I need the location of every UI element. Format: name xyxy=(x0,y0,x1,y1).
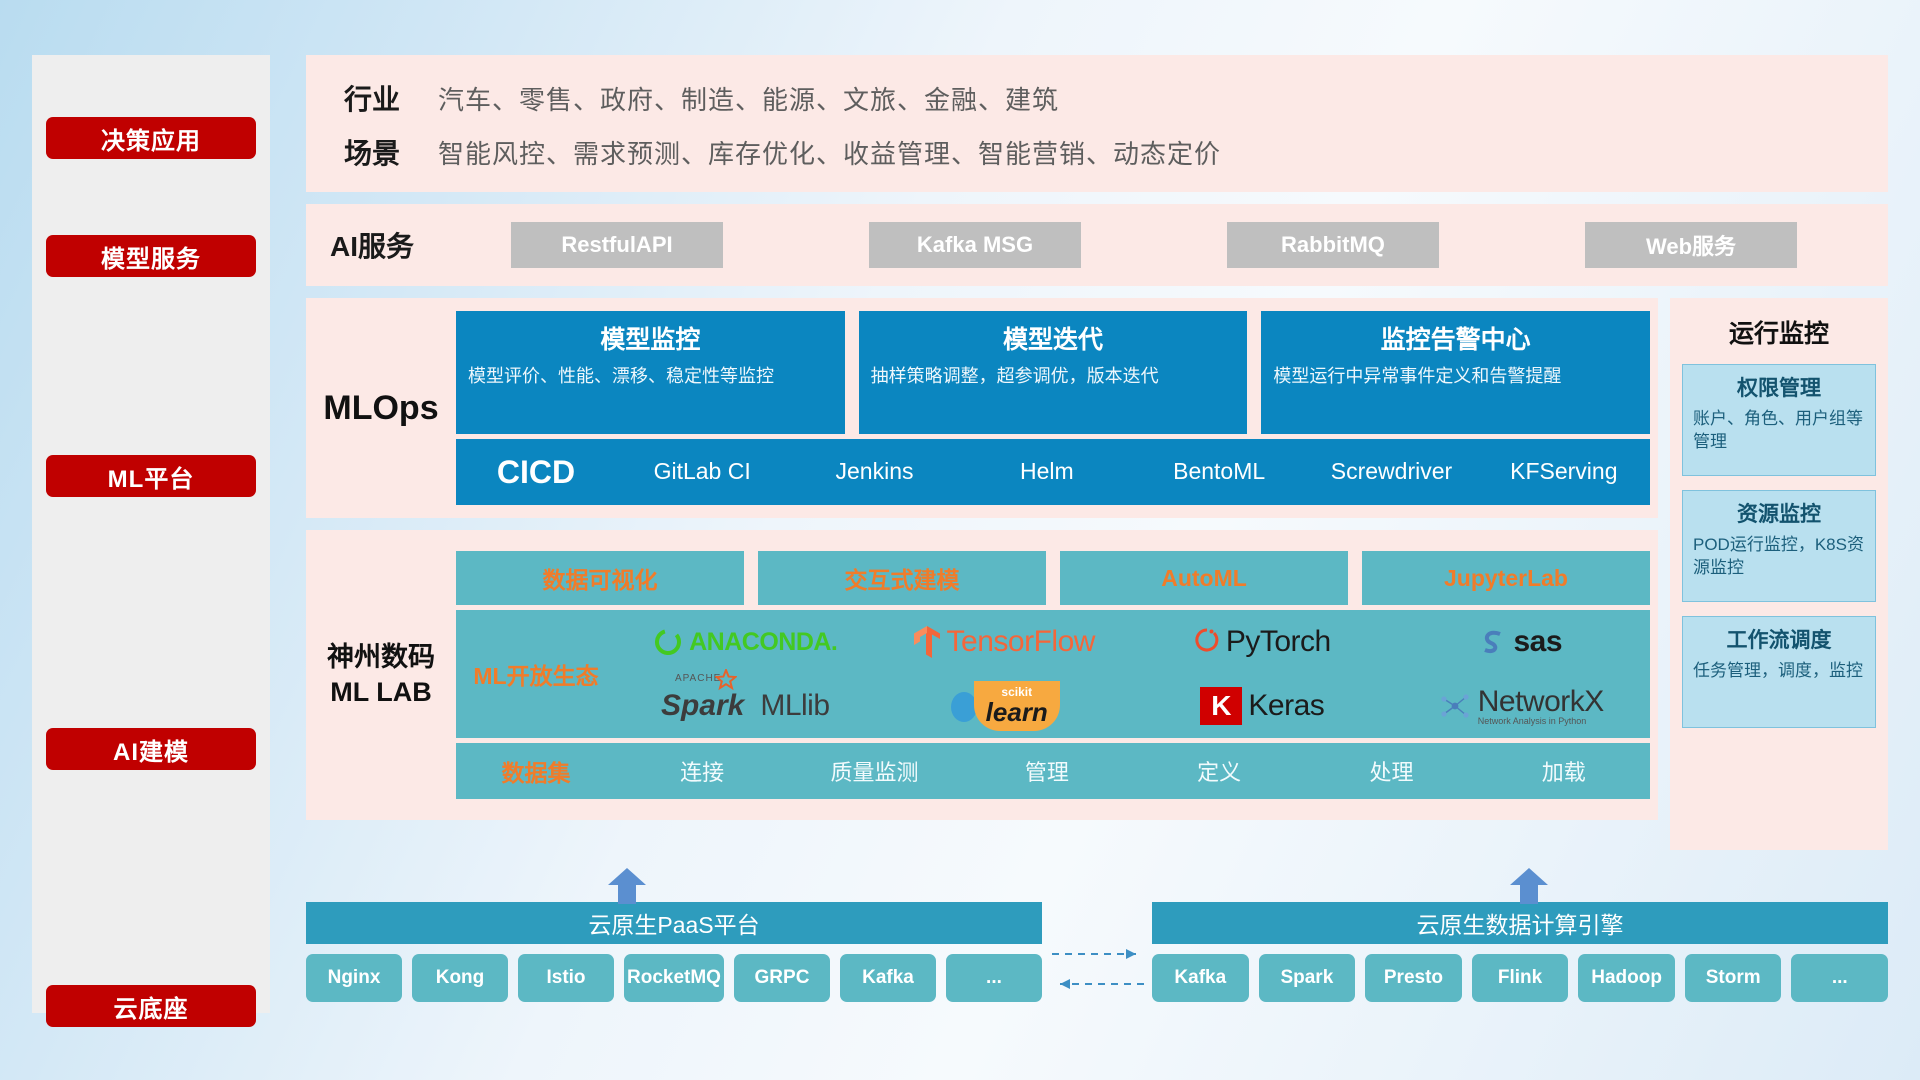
up-arrow-icon-paas xyxy=(606,868,648,904)
mlops-card-alert-center[interactable]: 监控告警中心 模型运行中异常事件定义和告警提醒 xyxy=(1261,311,1650,434)
cloud-chip-storm[interactable]: Storm xyxy=(1685,954,1782,1002)
pytorch-label: PyTorch xyxy=(1226,625,1331,659)
mlops-key: MLOps xyxy=(306,389,456,428)
networkx-logo: NetworkX Network Analysis in Python xyxy=(1438,687,1604,726)
rail-label: 模型服务 xyxy=(101,239,201,274)
rail-label: 云底座 xyxy=(114,989,189,1024)
ai-service-chip-kafka-msg[interactable]: Kafka MSG xyxy=(869,222,1081,268)
cloud-paas-title: 云原生PaaS平台 xyxy=(306,902,1042,944)
dataset-items: 连接 质量监测 管理 定义 处理 加载 xyxy=(616,755,1650,787)
cloud-base-area: 云原生PaaS平台 Nginx Kong Istio RocketMQ GRPC… xyxy=(306,880,1888,1018)
mlops-card-model-iteration[interactable]: 模型迭代 抽样策略调整，超参调优，版本迭代 xyxy=(859,311,1248,434)
tensorflow-label: TensorFlow xyxy=(947,625,1095,659)
tab-label: JupyterLab xyxy=(1444,565,1568,592)
scikit-orange-blob: scikit learn xyxy=(974,681,1060,731)
keras-k-mark: K xyxy=(1200,687,1242,725)
cloud-chip-kafka[interactable]: Kafka xyxy=(840,954,936,1002)
rail-item-decision-app[interactable]: 决策应用 xyxy=(46,117,256,159)
card-title: 模型监控 xyxy=(468,320,833,356)
cicd-item-gitlab-ci[interactable]: GitLab CI xyxy=(616,458,788,485)
scenario-row: 场景 智能风控、需求预测、库存优化、收益管理、智能营销、动态定价 xyxy=(306,125,1888,179)
pytorch-logo: PyTorch xyxy=(1194,625,1331,659)
ml-eco-logos: ANACONDA. TensorFlow xyxy=(616,610,1650,738)
ml-lab-key: 神州数码 ML LAB xyxy=(306,640,456,710)
anaconda-icon xyxy=(653,627,683,657)
spark-word: Spark xyxy=(661,689,744,722)
dataset-item-manage[interactable]: 管理 xyxy=(961,755,1133,787)
spark-star-icon xyxy=(715,669,737,691)
card-desc: 模型运行中异常事件定义和告警提醒 xyxy=(1273,364,1638,389)
tensorflow-logo: TensorFlow xyxy=(913,625,1095,659)
bar-label: 云原生数据计算引擎 xyxy=(1417,906,1624,940)
chip-label: Storm xyxy=(1706,968,1761,989)
networkx-graph-icon xyxy=(1438,691,1472,721)
cicd-label: CICD xyxy=(456,454,616,491)
cloud-chip-grpc[interactable]: GRPC xyxy=(734,954,830,1002)
up-arrow-icon-compute xyxy=(1508,868,1550,904)
ai-service-band: AI服务 RestfulAPI Kafka MSG RabbitMQ Web服务 xyxy=(306,204,1888,286)
keras-logo: K Keras xyxy=(1200,687,1324,725)
card-desc: 账户、角色、用户组等管理 xyxy=(1693,408,1865,454)
rail-item-ai-modeling[interactable]: AI建模 xyxy=(46,728,256,770)
networkx-subtitle: Network Analysis in Python xyxy=(1478,717,1604,726)
chip-label: Kafka xyxy=(862,968,914,989)
cloud-chip-more-right[interactable]: ... xyxy=(1791,954,1888,1002)
chip-label: Spark xyxy=(1280,968,1333,989)
bar-label: 云原生PaaS平台 xyxy=(588,906,759,940)
ai-service-chip-restfulapi[interactable]: RestfulAPI xyxy=(511,222,723,268)
cicd-strip: CICD GitLab CI Jenkins Helm BentoML Scre… xyxy=(456,439,1650,505)
architecture-diagram: 决策应用 模型服务 ML平台 AI建模 云底座 行业 汽车、零售、政府、制造、能… xyxy=(0,0,1920,1080)
industry-key: 行业 xyxy=(306,78,438,118)
chip-label: Nginx xyxy=(328,968,381,989)
ai-service-chip-web[interactable]: Web服务 xyxy=(1585,222,1797,268)
dataset-item-define[interactable]: 定义 xyxy=(1133,755,1305,787)
rail-item-ml-platform[interactable]: ML平台 xyxy=(46,455,256,497)
ml-eco-strip: ML开放生态 ANACONDA. xyxy=(456,610,1650,738)
scikit-learn-logo: scikit learn xyxy=(948,681,1060,731)
chip-label: RestfulAPI xyxy=(561,232,672,258)
dataset-item-process[interactable]: 处理 xyxy=(1305,755,1477,787)
tab-data-visualization[interactable]: 数据可视化 xyxy=(456,551,744,605)
main-column: 行业 汽车、零售、政府、制造、能源、文旅、金融、建筑 场景 智能风控、需求预测、… xyxy=(306,55,1888,850)
ml-lab-key-line1: 神州数码 xyxy=(306,640,456,675)
cloud-chip-istio[interactable]: Istio xyxy=(518,954,614,1002)
rail-label: AI建模 xyxy=(113,732,189,767)
chip-label: Kafka xyxy=(1174,968,1226,989)
chip-label: Hadoop xyxy=(1591,968,1662,989)
cloud-chip-nginx[interactable]: Nginx xyxy=(306,954,402,1002)
cicd-item-bentoml[interactable]: BentoML xyxy=(1133,458,1305,485)
chip-label: Kafka MSG xyxy=(917,232,1033,258)
card-desc: 抽样策略调整，超参调优，版本迭代 xyxy=(871,364,1236,389)
chip-label: RocketMQ xyxy=(627,968,721,989)
anaconda-label: ANACONDA. xyxy=(689,628,837,657)
card-title: 权限管理 xyxy=(1693,372,1865,402)
cicd-item-screwdriver[interactable]: Screwdriver xyxy=(1305,458,1477,485)
scenario-key: 场景 xyxy=(306,132,438,172)
dataset-item-connect[interactable]: 连接 xyxy=(616,755,788,787)
runtime-monitor-title: 运行监控 xyxy=(1682,314,1876,350)
scenario-value: 智能风控、需求预测、库存优化、收益管理、智能营销、动态定价 xyxy=(438,134,1221,171)
rail-label: 决策应用 xyxy=(101,121,201,156)
tab-label: AutoML xyxy=(1161,565,1247,592)
mlops-cards: 模型监控 模型评价、性能、漂移、稳定性等监控 模型迭代 抽样策略调整，超参调优，… xyxy=(456,311,1650,434)
chip-label: Kong xyxy=(436,968,485,989)
dataset-label: 数据集 xyxy=(456,754,616,788)
monitor-card-workflow[interactable]: 工作流调度 任务管理，调度，监控 xyxy=(1682,616,1876,728)
industry-value: 汽车、零售、政府、制造、能源、文旅、金融、建筑 xyxy=(438,80,1059,117)
chip-label: RabbitMQ xyxy=(1281,232,1385,258)
cloud-paas-chips: Nginx Kong Istio RocketMQ GRPC Kafka ... xyxy=(306,954,1042,1002)
mlops-card-model-monitoring[interactable]: 模型监控 模型评价、性能、漂移、稳定性等监控 xyxy=(456,311,845,434)
card-desc: 模型评价、性能、漂移、稳定性等监控 xyxy=(468,364,833,389)
sas-label: sas xyxy=(1513,625,1562,659)
tensorflow-icon xyxy=(913,625,941,659)
chip-label: GRPC xyxy=(755,968,810,989)
mlops-content: 模型监控 模型评价、性能、漂移、稳定性等监控 模型迭代 抽样策略调整，超参调优，… xyxy=(456,311,1658,505)
spark-mllib-logo: APACHE Spark MLlib xyxy=(661,689,830,723)
learn-word: learn xyxy=(986,699,1048,725)
cloud-chip-rocketmq[interactable]: RocketMQ xyxy=(624,954,724,1002)
monitor-card-resource[interactable]: 资源监控 POD运行监控，K8S资源监控 xyxy=(1682,490,1876,602)
ai-service-items: RestfulAPI Kafka MSG RabbitMQ Web服务 xyxy=(438,222,1888,268)
ml-lab-key-line2: ML LAB xyxy=(306,675,456,710)
tab-label: 交互式建模 xyxy=(845,561,960,595)
chip-label: Presto xyxy=(1384,968,1443,989)
ai-service-chip-rabbitmq[interactable]: RabbitMQ xyxy=(1227,222,1439,268)
dataset-item-load[interactable]: 加载 xyxy=(1478,755,1650,787)
cloud-chip-hadoop[interactable]: Hadoop xyxy=(1578,954,1675,1002)
keras-label: Keras xyxy=(1248,689,1324,723)
cicd-item-jenkins[interactable]: Jenkins xyxy=(788,458,960,485)
cloud-chip-presto[interactable]: Presto xyxy=(1365,954,1462,1002)
cloud-compute-title: 云原生数据计算引擎 xyxy=(1152,902,1888,944)
chip-label: ... xyxy=(1832,968,1848,989)
sas-icon xyxy=(1479,627,1507,657)
cicd-items: GitLab CI Jenkins Helm BentoML Screwdriv… xyxy=(616,458,1650,485)
mllib-label: MLlib xyxy=(760,689,829,723)
dataset-item-quality[interactable]: 质量监测 xyxy=(788,755,960,787)
rail-item-model-service[interactable]: 模型服务 xyxy=(46,235,256,277)
cloud-chip-more-left[interactable]: ... xyxy=(946,954,1042,1002)
cloud-chip-flink[interactable]: Flink xyxy=(1472,954,1569,1002)
pytorch-icon xyxy=(1194,627,1220,657)
chip-label: Flink xyxy=(1498,968,1542,989)
sas-logo: sas xyxy=(1479,625,1562,659)
cloud-compute-group: 云原生数据计算引擎 Kafka Spark Presto Flink Hadoo… xyxy=(1152,902,1888,1002)
card-title: 工作流调度 xyxy=(1693,624,1865,654)
cloud-chip-kong[interactable]: Kong xyxy=(412,954,508,1002)
runtime-monitor-panel: 运行监控 权限管理 账户、角色、用户组等管理 资源监控 POD运行监控，K8S资… xyxy=(1670,298,1888,850)
decision-app-band: 行业 汽车、零售、政府、制造、能源、文旅、金融、建筑 场景 智能风控、需求预测、… xyxy=(306,55,1888,192)
card-title: 资源监控 xyxy=(1693,498,1865,528)
chip-label: ... xyxy=(986,968,1002,989)
ml-lab-band: 神州数码 ML LAB 数据可视化 交互式建模 AutoML JupyterLa… xyxy=(306,530,1658,820)
tab-jupyterlab[interactable]: JupyterLab xyxy=(1362,551,1650,605)
cicd-item-kfserving[interactable]: KFServing xyxy=(1478,458,1650,485)
cloud-compute-chips: Kafka Spark Presto Flink Hadoop Storm ..… xyxy=(1152,954,1888,1002)
card-desc: POD运行监控，K8S资源监控 xyxy=(1693,534,1865,580)
mlops-band: MLOps 模型监控 模型评价、性能、漂移、稳定性等监控 模型迭代 抽样策略调整… xyxy=(306,298,1658,518)
industry-row: 行业 汽车、零售、政府、制造、能源、文旅、金融、建筑 xyxy=(306,71,1888,125)
ml-lab-tabs: 数据可视化 交互式建模 AutoML JupyterLab xyxy=(456,551,1650,605)
tab-label: 数据可视化 xyxy=(543,561,658,595)
cicd-item-helm[interactable]: Helm xyxy=(961,458,1133,485)
cloud-paas-group: 云原生PaaS平台 Nginx Kong Istio RocketMQ GRPC… xyxy=(306,902,1042,1002)
rail-label: ML平台 xyxy=(108,459,195,494)
ai-service-key: AI服务 xyxy=(306,225,438,265)
anaconda-logo: ANACONDA. xyxy=(653,627,837,657)
card-title: 模型迭代 xyxy=(871,320,1236,356)
monitor-card-permission[interactable]: 权限管理 账户、角色、用户组等管理 xyxy=(1682,364,1876,476)
rail-item-cloud-base[interactable]: 云底座 xyxy=(46,985,256,1027)
tab-automl[interactable]: AutoML xyxy=(1060,551,1348,605)
cloud-chip-kafka-right[interactable]: Kafka xyxy=(1152,954,1249,1002)
card-desc: 任务管理，调度，监控 xyxy=(1693,660,1865,683)
ml-platform-row: MLOps 模型监控 模型评价、性能、漂移、稳定性等监控 模型迭代 抽样策略调整… xyxy=(306,298,1888,850)
card-title: 监控告警中心 xyxy=(1273,320,1638,356)
chip-label: Istio xyxy=(546,968,585,989)
chip-label: Web服务 xyxy=(1646,229,1736,261)
tab-interactive-modeling[interactable]: 交互式建模 xyxy=(758,551,1046,605)
cloud-chip-spark[interactable]: Spark xyxy=(1259,954,1356,1002)
dataset-strip: 数据集 连接 质量监测 管理 定义 处理 加载 xyxy=(456,743,1650,799)
networkx-label: NetworkX xyxy=(1478,687,1604,717)
bidirectional-link-arrows xyxy=(1048,940,1148,1000)
ml-lab-content: 数据可视化 交互式建模 AutoML JupyterLab ML开放生态 xyxy=(456,551,1658,799)
ml-eco-label: ML开放生态 xyxy=(456,657,616,691)
layer-rail: 决策应用 模型服务 ML平台 AI建模 云底座 xyxy=(32,55,270,1013)
